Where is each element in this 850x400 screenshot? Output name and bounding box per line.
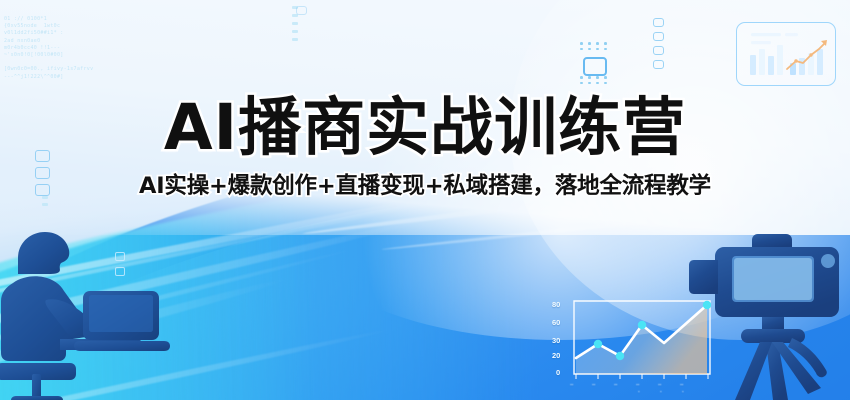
dot-column-left [42,196,48,206]
chip-icon-group-center [296,6,307,15]
x-tick-label: ▪▪ [592,382,595,387]
chip-icon [653,60,664,69]
headline-group: AI播商实战训练营 AI实操+爆款创作+直播变现+私域搭建，落地全流程教学 [0,96,850,198]
x-tick-label: ▪▪ [570,382,573,387]
bar-chart-icon-svg [737,23,835,85]
y-tick-label: 80 [552,300,560,309]
y-tick-label: 20 [552,351,560,360]
x-tick-label: ▪▪ [658,382,661,387]
line-chart: 80 60 30 20 0 [552,296,722,396]
chip-icon [653,18,664,27]
y-tick-label: 60 [552,318,560,327]
chip-icon [653,46,664,55]
page-subtitle: AI实操+爆款创作+直播变现+私域搭建，落地全流程教学 [0,175,850,198]
chip-icon [653,32,664,41]
y-tick-label: 0 [556,368,560,377]
promo-banner: 01 :// 0100*1 {0xv55node 1wt0c v0l1dd2fi… [0,0,850,400]
x-tick-label: ▪ [638,389,640,394]
x-tick-label: ▪ [682,389,684,394]
person-at-laptop-svg [0,215,184,400]
code-text-decoration: 01 :// 0100*1 {0xv55node 1wt0c v0l1dd2fi… [4,16,116,81]
x-tick-label: ▪▪ [680,382,683,387]
chip-icon [296,6,307,15]
rounded-square-icon [583,57,607,76]
bar-chart-icon [736,22,836,86]
dot-icon [42,203,48,206]
chip-icon-group-right [653,18,664,69]
dot-icon [292,38,298,41]
x-tick-label: ▪ [660,389,662,394]
dot-grid-icon [580,42,609,50]
x-tick-label: ▪▪ [636,382,639,387]
dot-icon [292,30,298,33]
dot-grid-icon [580,76,609,84]
y-tick-label: 30 [552,336,560,345]
line-chart-svg [552,296,722,396]
page-title: AI播商实战训练营 [0,96,850,159]
x-tick-label: ▪▪ [614,382,617,387]
person-at-laptop-icon [0,215,184,400]
dot-icon [292,22,298,25]
